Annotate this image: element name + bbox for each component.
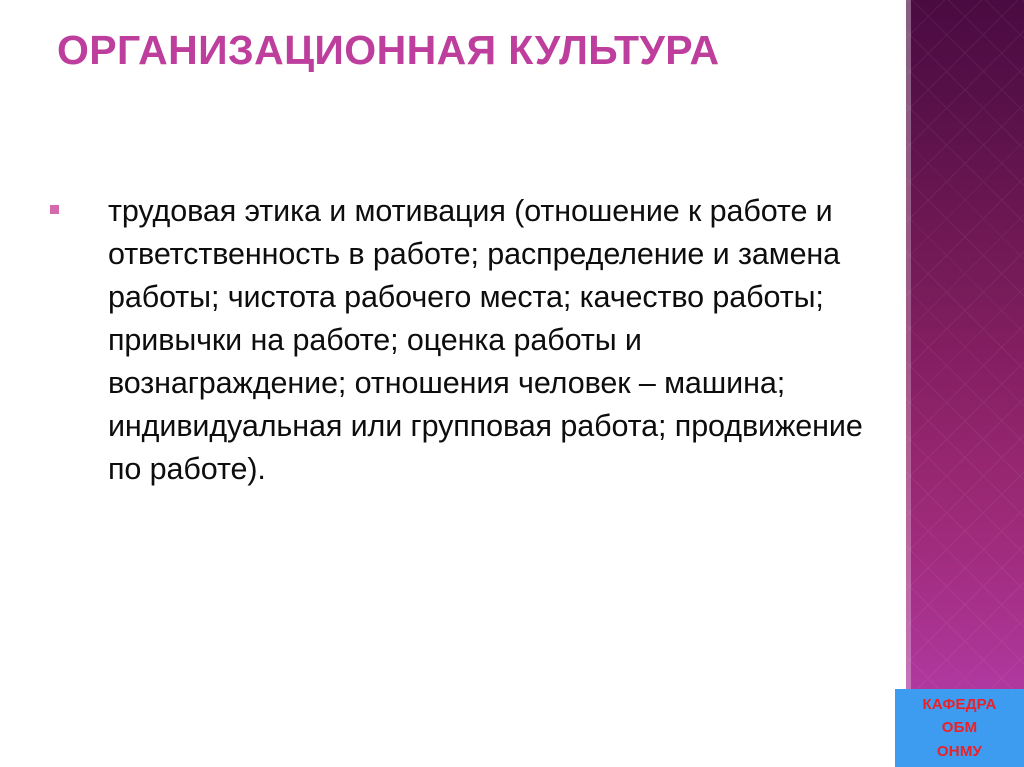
slide-canvas: ОРГАНИЗАЦИОННАЯ КУЛЬТУРА трудовая этика …	[0, 0, 1024, 767]
slide-title: ОРГАНИЗАЦИОННАЯ КУЛЬТУРА	[57, 26, 867, 75]
badge-line-2: ОБМ	[942, 716, 978, 739]
badge-line-3: ОНМУ	[937, 740, 982, 763]
bullet-item-text: трудовая этика и мотивация (отношение к …	[108, 190, 870, 491]
right-gradient-band	[906, 0, 1024, 767]
right-band-edge-highlight	[906, 0, 911, 767]
badge-line-1: КАФЕДРА	[922, 693, 996, 716]
bullet-list: трудовая этика и мотивация (отношение к …	[50, 190, 870, 491]
department-badge: КАФЕДРА ОБМ ОНМУ	[895, 689, 1024, 767]
square-bullet-icon	[50, 205, 59, 214]
